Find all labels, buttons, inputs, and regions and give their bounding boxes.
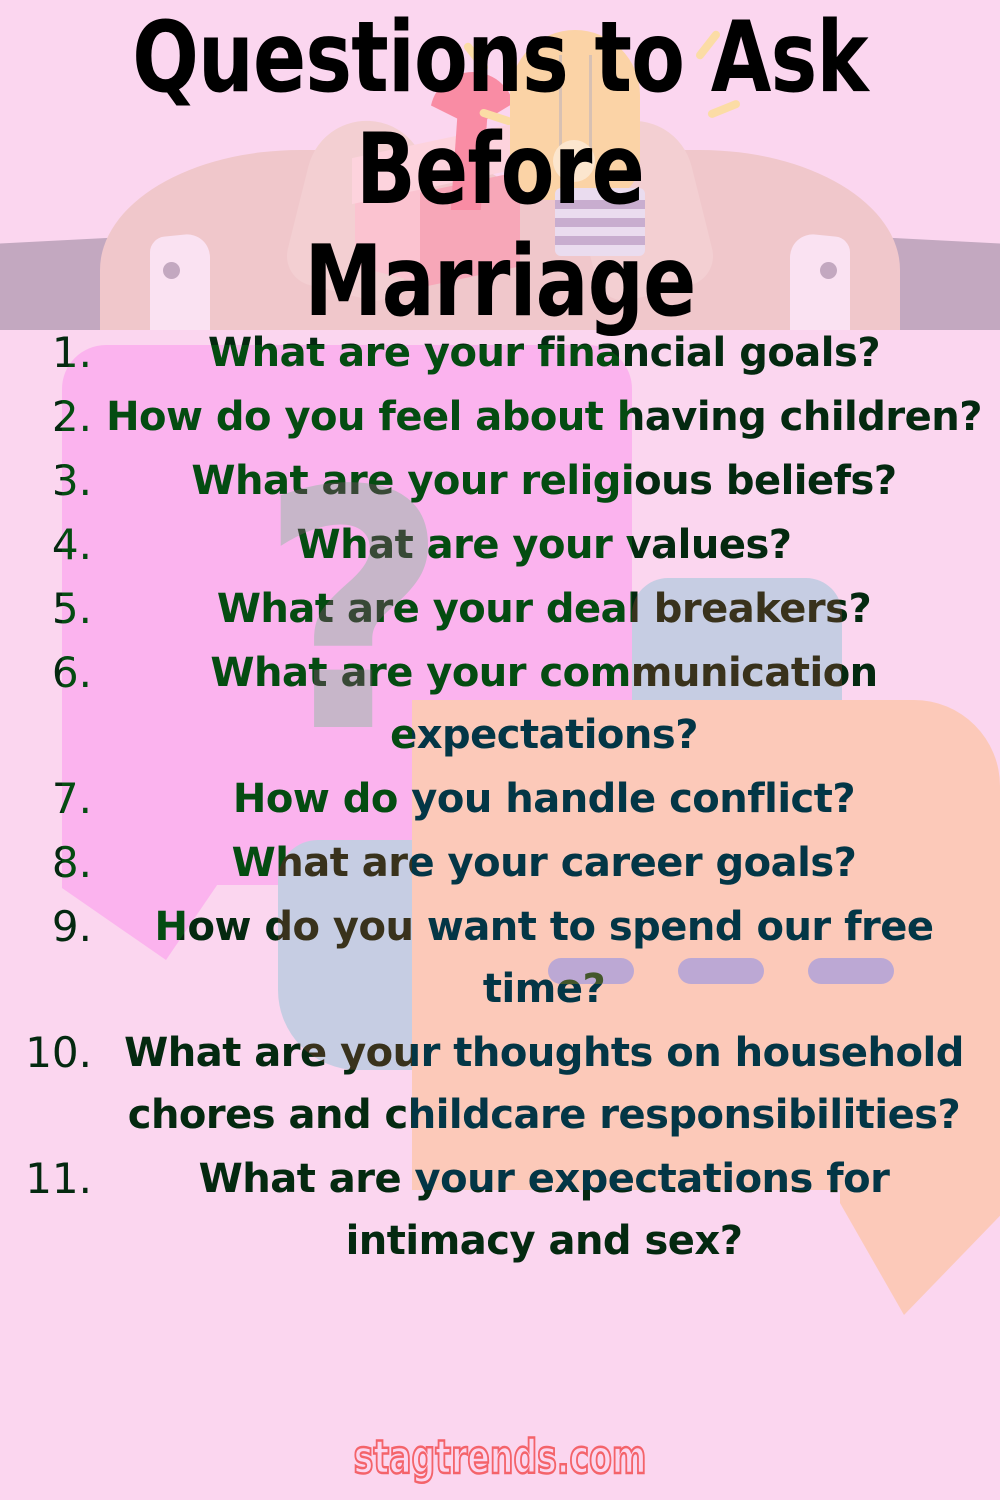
questions-list: 1.What are your financial goals?2.How do…	[0, 322, 1000, 1274]
question-text: What are your communication expectations…	[106, 642, 1000, 766]
infographic-poster: ? Questions to Ask Before Marriage 1.Wha…	[0, 0, 1000, 1500]
question-row: 4.What are your values?	[0, 514, 1000, 576]
question-text: What are your deal breakers?	[106, 578, 1000, 640]
question-number: 4.	[0, 514, 106, 576]
question-row: 11.What are your expectations for intima…	[0, 1148, 1000, 1272]
page-title-line-2: Marriage	[100, 226, 900, 338]
question-number: 10.	[0, 1022, 106, 1084]
question-row: 6.What are your communication expectatio…	[0, 642, 1000, 766]
question-number: 7.	[0, 768, 106, 830]
question-text: How do you feel about having children?	[106, 386, 1000, 448]
question-number: 9.	[0, 896, 106, 958]
question-row: 3.What are your religious beliefs?	[0, 450, 1000, 512]
question-text: What are your religious beliefs?	[106, 450, 1000, 512]
question-text: How do you handle conflict?	[106, 768, 1000, 830]
question-row: 5.What are your deal breakers?	[0, 578, 1000, 640]
question-number: 2.	[0, 386, 106, 448]
question-row: 8.What are your career goals?	[0, 832, 1000, 894]
question-row: 9.How do you want to spend our free time…	[0, 896, 1000, 1020]
question-number: 8.	[0, 832, 106, 894]
question-text: What are your thoughts on household chor…	[106, 1022, 1000, 1146]
question-row: 2.How do you feel about having children?	[0, 386, 1000, 448]
page-title: Questions to Ask Before Marriage	[100, 2, 900, 338]
question-text: How do you want to spend our free time?	[106, 896, 1000, 1020]
question-number: 6.	[0, 642, 106, 704]
question-number: 1.	[0, 322, 106, 384]
question-number: 11.	[0, 1148, 106, 1210]
question-number: 5.	[0, 578, 106, 640]
question-text: What are your expectations for intimacy …	[106, 1148, 1000, 1272]
site-watermark: stagtrends.com	[140, 1430, 860, 1484]
question-text: What are your career goals?	[106, 832, 1000, 894]
question-number: 3.	[0, 450, 106, 512]
question-text: What are your values?	[106, 514, 1000, 576]
question-row: 10.What are your thoughts on household c…	[0, 1022, 1000, 1146]
page-title-line-1: Questions to Ask Before	[100, 2, 900, 226]
question-row: 7.How do you handle conflict?	[0, 768, 1000, 830]
